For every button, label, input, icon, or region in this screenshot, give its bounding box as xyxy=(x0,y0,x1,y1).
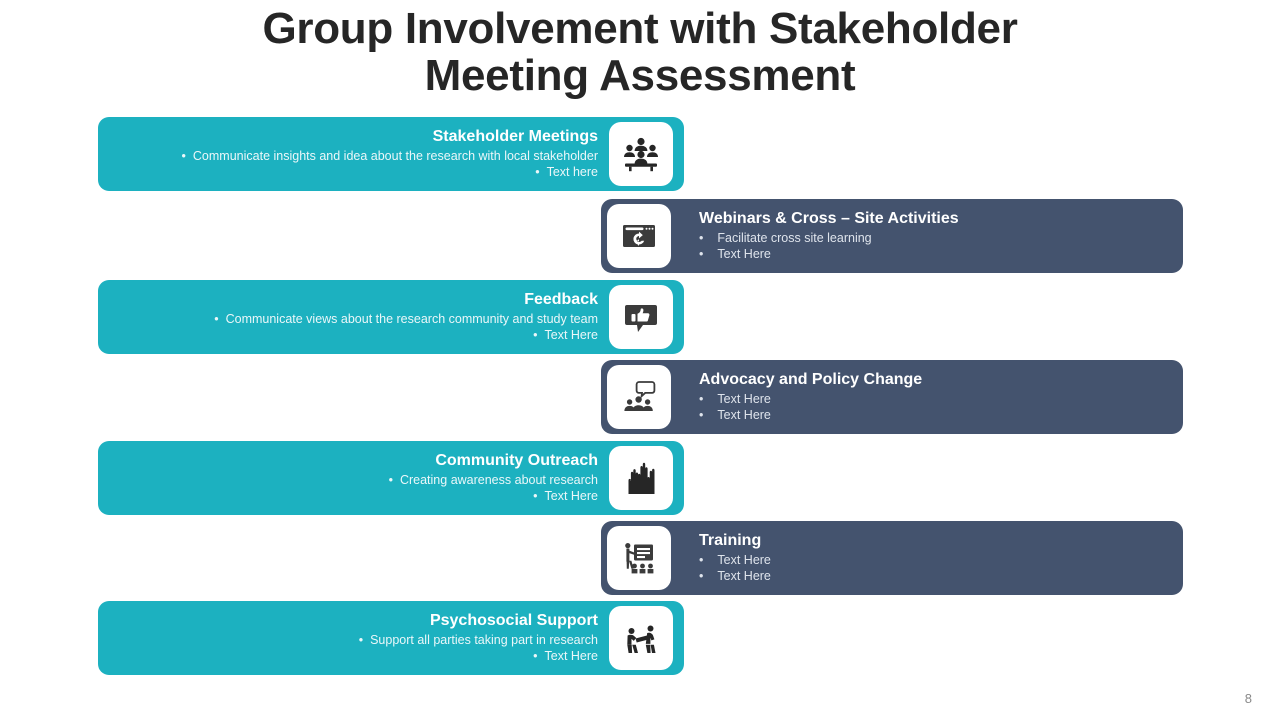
row-text-block: Webinars & Cross – Site Activities •Faci… xyxy=(699,199,1169,273)
row-icon-tile[interactable] xyxy=(607,526,671,590)
bullet-text: Facilitate cross site learning xyxy=(717,231,871,245)
row-icon-tile[interactable] xyxy=(609,446,673,510)
list-item: •Facilitate cross site learning xyxy=(699,230,872,246)
page-title: Group Involvement with Stakeholder Meeti… xyxy=(140,6,1140,99)
bullet-text: Text Here xyxy=(545,649,599,663)
bullet-glyph: • xyxy=(389,472,393,488)
bullet-glyph: • xyxy=(699,391,703,407)
list-item: •Text Here xyxy=(699,246,872,262)
bullet-glyph: • xyxy=(214,311,218,327)
row-heading: Stakeholder Meetings xyxy=(433,128,598,147)
browser-refresh-icon xyxy=(619,216,659,256)
thumbs-up-bubble-icon xyxy=(621,297,661,337)
row-heading: Psychosocial Support xyxy=(430,612,598,631)
bullet-glyph: • xyxy=(699,407,703,423)
row-icon-tile[interactable] xyxy=(609,285,673,349)
bullet-text: Text here xyxy=(547,165,598,179)
meeting-people-icon xyxy=(621,134,661,174)
row-icon-tile[interactable] xyxy=(607,204,671,268)
row-heading: Community Outreach xyxy=(435,452,598,471)
presenter-whiteboard-icon xyxy=(619,538,659,578)
bullet-text: Creating awareness about research xyxy=(400,473,598,487)
row-bullet-list: •Communicate insights and idea about the… xyxy=(182,148,598,180)
row-text-block: Psychosocial Support •Support all partie… xyxy=(112,601,598,675)
row-icon-tile[interactable] xyxy=(609,606,673,670)
list-item: •Support all parties taking part in rese… xyxy=(359,632,598,648)
bullet-glyph: • xyxy=(699,246,703,262)
bullet-text: Support all parties taking part in resea… xyxy=(370,633,598,647)
list-item: •Text Here xyxy=(359,648,598,664)
row-bullet-list: •Text Here •Text Here xyxy=(699,391,771,423)
bullet-glyph: • xyxy=(699,230,703,246)
row-bullet-list: •Support all parties taking part in rese… xyxy=(359,632,598,664)
row-icon-tile[interactable] xyxy=(607,365,671,429)
row-icon-tile[interactable] xyxy=(609,122,673,186)
row-bullet-list: •Text Here •Text Here xyxy=(699,552,771,584)
list-item: •Text here xyxy=(182,164,598,180)
bullet-glyph: • xyxy=(699,552,703,568)
bullet-text: Communicate insights and idea about the … xyxy=(193,149,598,163)
bullet-glyph: • xyxy=(533,648,537,664)
row-heading: Advocacy and Policy Change xyxy=(699,371,922,390)
bullet-glyph: • xyxy=(533,327,537,343)
row-bullet-list: •Communicate views about the research co… xyxy=(214,311,598,343)
row-heading: Webinars & Cross – Site Activities xyxy=(699,210,959,229)
bullet-text: Text Here xyxy=(545,489,599,503)
row-text-block: Community Outreach •Creating awareness a… xyxy=(112,441,598,515)
bullet-text: Text Here xyxy=(717,569,771,583)
bullet-text: Communicate views about the research com… xyxy=(226,312,598,326)
row-text-block: Training •Text Here •Text Here xyxy=(699,521,1169,595)
crowd-speech-bubble-icon xyxy=(619,377,659,417)
row-bullet-list: •Creating awareness about research •Text… xyxy=(389,472,598,504)
bullet-glyph: • xyxy=(699,568,703,584)
list-item: •Text Here xyxy=(699,391,771,407)
list-item: •Text Here xyxy=(699,407,771,423)
bullet-text: Text Here xyxy=(545,328,599,342)
bullet-text: Text Here xyxy=(717,408,771,422)
row-text-block: Stakeholder Meetings •Communicate insigh… xyxy=(112,117,598,191)
bullet-glyph: • xyxy=(533,488,537,504)
bullet-glyph: • xyxy=(359,632,363,648)
bullet-text: Text Here xyxy=(717,247,771,261)
bullet-text: Text Here xyxy=(717,392,771,406)
row-text-block: Advocacy and Policy Change •Text Here •T… xyxy=(699,360,1169,434)
list-item: •Creating awareness about research xyxy=(389,472,598,488)
bullet-glyph: • xyxy=(182,148,186,164)
raised-hands-icon xyxy=(621,458,661,498)
list-item: •Text Here xyxy=(699,552,771,568)
row-bullet-list: •Facilitate cross site learning •Text He… xyxy=(699,230,872,262)
list-item: •Communicate views about the research co… xyxy=(214,311,598,327)
title-line-1: Group Involvement with Stakeholder xyxy=(140,6,1140,53)
title-line-2: Meeting Assessment xyxy=(140,53,1140,100)
people-support-icon xyxy=(621,618,661,658)
list-item: •Text Here xyxy=(389,488,598,504)
bullet-text: Text Here xyxy=(717,553,771,567)
slide-canvas: Group Involvement with Stakeholder Meeti… xyxy=(0,0,1280,720)
list-item: •Communicate insights and idea about the… xyxy=(182,148,598,164)
list-item: •Text Here xyxy=(699,568,771,584)
page-number: 8 xyxy=(1245,691,1252,706)
list-item: •Text Here xyxy=(214,327,598,343)
row-text-block: Feedback •Communicate views about the re… xyxy=(112,280,598,354)
bullet-glyph: • xyxy=(535,164,539,180)
row-heading: Feedback xyxy=(524,291,598,310)
row-heading: Training xyxy=(699,532,761,551)
